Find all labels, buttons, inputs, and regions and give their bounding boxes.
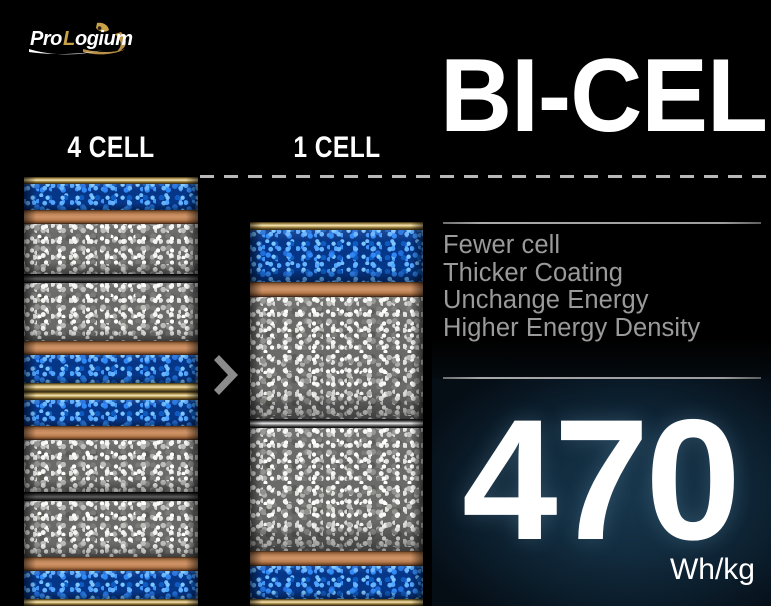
current-collector-gold	[250, 599, 423, 606]
svg-text:L: L	[63, 28, 75, 50]
current-collector-gold	[24, 392, 198, 400]
divider-rule-bottom	[443, 377, 761, 379]
cathode-particle-bed	[250, 428, 423, 551]
cathode-particle-bed	[24, 501, 198, 557]
anode-particle-bed	[24, 184, 198, 210]
benefit-item: Fewer cell	[443, 232, 765, 260]
cathode-particle-bed	[24, 283, 198, 341]
benefit-item: Unchange Energy	[443, 287, 765, 315]
current-collector-copper	[250, 282, 423, 297]
anode-particle-bed	[24, 400, 198, 426]
current-collector-copper	[250, 551, 423, 566]
battery-stack-1-cell	[250, 222, 423, 606]
current-collector-gold	[24, 177, 198, 184]
battery-stack-4-cell	[24, 177, 198, 606]
benefit-item: Thicker Coating	[443, 260, 765, 288]
column-label-1-cell: 1 CELL	[266, 133, 409, 163]
current-collector-gold	[250, 222, 423, 230]
cathode-particle-bed	[24, 440, 198, 492]
svg-text:ogium: ogium	[75, 28, 133, 50]
energy-density-unit: Wh/kg	[437, 555, 755, 585]
current-collector-copper	[24, 210, 198, 224]
current-collector-copper	[24, 341, 198, 355]
divider-rule-top	[443, 222, 761, 224]
current-collector-copper	[24, 557, 198, 571]
prologium-logo[interactable]: Pro L ogium	[25, 22, 165, 58]
current-collector-copper	[24, 426, 198, 440]
separator-layer	[250, 419, 423, 428]
separator-layer	[24, 274, 198, 283]
benefits-list: Fewer cellThicker CoatingUnchange Energy…	[443, 232, 765, 342]
chevron-right-icon	[212, 352, 244, 398]
benefit-item: Higher Energy Density	[443, 315, 765, 343]
anode-particle-bed	[24, 355, 198, 383]
anode-particle-bed	[250, 566, 423, 599]
column-label-4-cell: 4 CELL	[40, 133, 183, 163]
anode-particle-bed	[250, 230, 423, 282]
cathode-particle-bed	[24, 224, 198, 274]
current-collector-gold	[24, 599, 198, 606]
poster-canvas: Pro L ogium BI-CELL 4 CELL 1 CELL Fewer …	[0, 0, 771, 606]
cathode-particle-bed	[250, 297, 423, 419]
energy-density-value: 470	[437, 394, 762, 566]
dashed-divider	[200, 175, 771, 178]
page-title: BI-CELL	[440, 44, 752, 152]
svg-text:Pro: Pro	[30, 28, 62, 50]
separator-layer	[24, 492, 198, 501]
current-collector-gold	[24, 383, 198, 392]
anode-particle-bed	[24, 571, 198, 599]
